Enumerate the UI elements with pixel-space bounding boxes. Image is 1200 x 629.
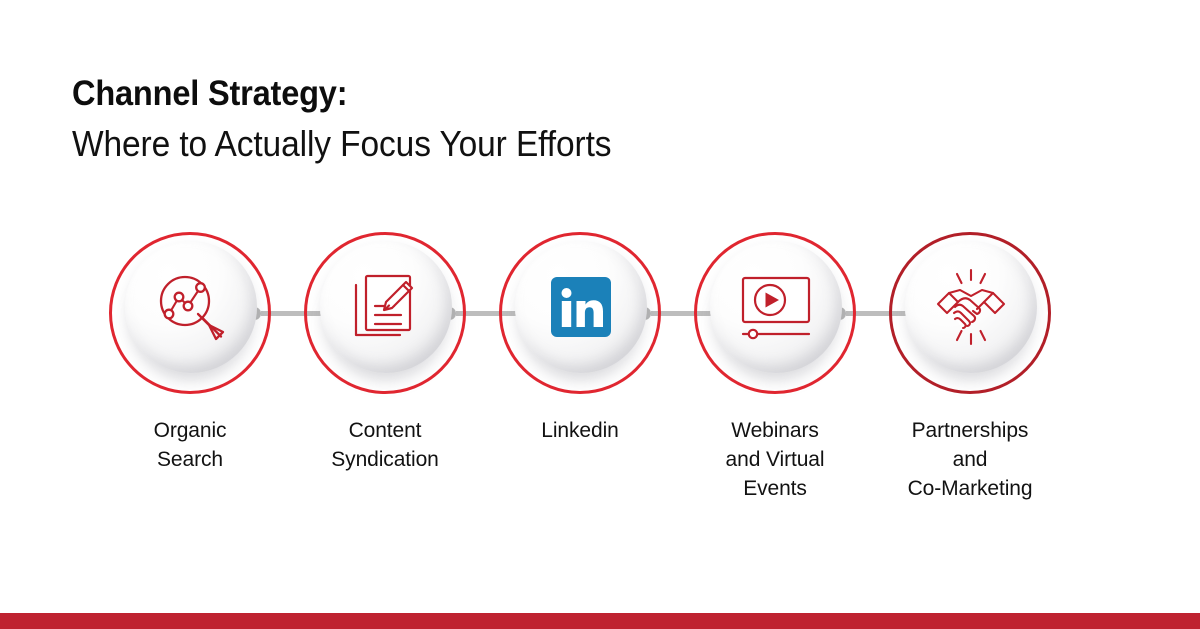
flow-node-organic-search[interactable]: Organic Search bbox=[92, 232, 288, 474]
handshake-icon bbox=[905, 241, 1037, 373]
flow-node-linkedin[interactable]: Linkedin bbox=[482, 232, 678, 445]
channel-flow: Organic Search Content Syndication bbox=[0, 232, 1200, 532]
node-circle[interactable] bbox=[694, 232, 856, 394]
flow-node-partnerships[interactable]: Partnerships and Co-Marketing bbox=[872, 232, 1068, 503]
node-label: Partnerships and Co-Marketing bbox=[872, 416, 1068, 503]
bottom-accent-bar bbox=[0, 613, 1200, 629]
linkedin-icon bbox=[515, 241, 647, 373]
document-pencil-icon bbox=[320, 241, 452, 373]
flow-node-webinars[interactable]: Webinars and Virtual Events bbox=[677, 232, 873, 503]
page-heading: Channel Strategy: Where to Actually Focu… bbox=[72, 72, 1032, 167]
node-circle[interactable] bbox=[499, 232, 661, 394]
node-label: Content Syndication bbox=[287, 416, 483, 474]
node-circle[interactable] bbox=[889, 232, 1051, 394]
node-circle[interactable] bbox=[304, 232, 466, 394]
node-label: Linkedin bbox=[482, 416, 678, 445]
video-player-icon bbox=[710, 241, 842, 373]
heading-line-1: Channel Strategy: bbox=[72, 72, 965, 116]
magnifier-network-icon bbox=[125, 241, 257, 373]
node-label: Webinars and Virtual Events bbox=[677, 416, 873, 503]
node-label: Organic Search bbox=[92, 416, 288, 474]
flow-node-content-syndication[interactable]: Content Syndication bbox=[287, 232, 483, 474]
node-circle[interactable] bbox=[109, 232, 271, 394]
heading-line-2: Where to Actually Focus Your Efforts bbox=[72, 121, 965, 167]
